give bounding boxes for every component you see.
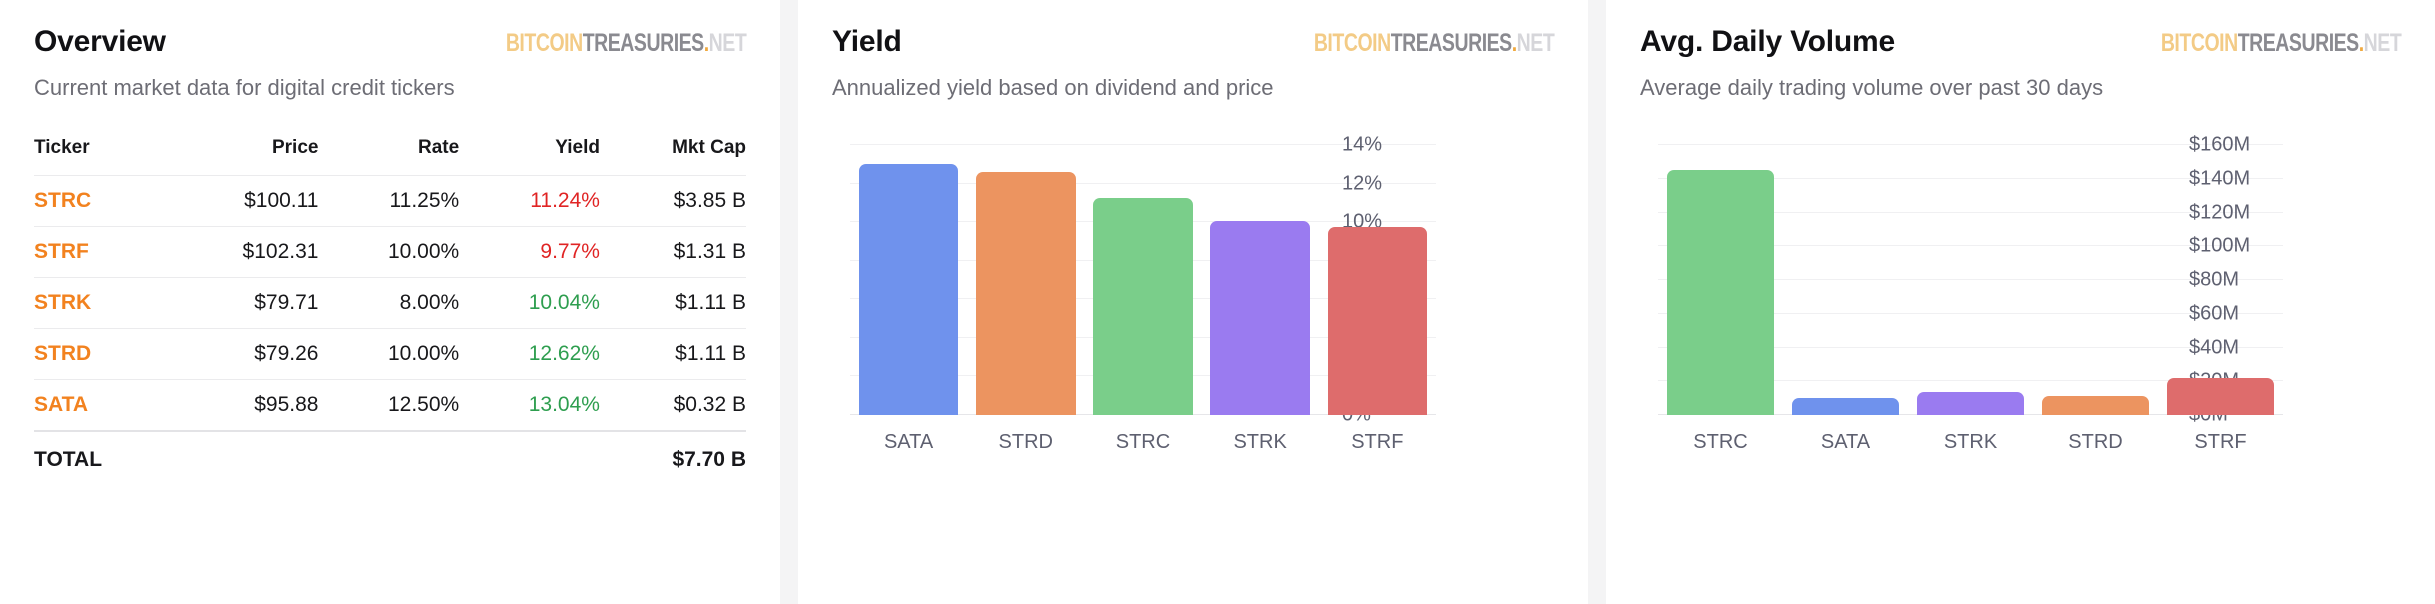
- cell-mktcap: $0.32 B: [600, 380, 746, 432]
- cell-ticker[interactable]: STRF: [34, 227, 168, 278]
- cell-rate: 11.25%: [318, 176, 459, 227]
- cell-rate: 10.00%: [318, 329, 459, 380]
- cell-rate: 8.00%: [318, 278, 459, 329]
- x-axis-tick-label: STRK: [1917, 431, 2023, 454]
- cell-mktcap: $1.11 B: [600, 329, 746, 380]
- cell-price: $95.88: [168, 380, 318, 432]
- cell-ticker[interactable]: STRD: [34, 329, 168, 380]
- yield-bar-chart[interactable]: 0%2%4%6%8%10%12%14%SATASTRDSTRCSTRKSTRF: [832, 131, 1554, 471]
- cell-rate: 12.50%: [318, 380, 459, 432]
- cell-ticker[interactable]: STRC: [34, 176, 168, 227]
- x-axis-tick-label: STRF: [2167, 431, 2273, 454]
- yield-value: 12.62%: [529, 342, 600, 365]
- cell-price: $100.11: [168, 176, 318, 227]
- bar-column[interactable]: [1917, 145, 2023, 415]
- col-price[interactable]: Price: [168, 137, 318, 176]
- brand-part2: TREASURIES: [582, 29, 703, 57]
- bar-strd[interactable]: [2042, 396, 2148, 415]
- bar-strf[interactable]: [2167, 378, 2273, 415]
- volume-bar-chart[interactable]: $0M$20M$40M$60M$80M$100M$120M$140M$160MS…: [1640, 131, 2401, 471]
- table-row[interactable]: SATA$95.8812.50%13.04%$0.32 B: [34, 380, 746, 432]
- cell-ticker[interactable]: STRK: [34, 278, 168, 329]
- yield-header: Yield BITCOINTREASURIES.NET: [832, 26, 1554, 62]
- yield-value: 13.04%: [529, 393, 600, 416]
- cell-price: $79.26: [168, 329, 318, 380]
- bar-strk[interactable]: [1210, 221, 1310, 415]
- x-axis-tick-label: SATA: [1792, 431, 1898, 454]
- cell-yield: 9.77%: [459, 227, 600, 278]
- bar-strd[interactable]: [976, 172, 1076, 415]
- total-price-blank: [168, 431, 318, 485]
- cell-ticker[interactable]: SATA: [34, 380, 168, 432]
- bar-sata[interactable]: [859, 164, 959, 415]
- x-axis-labels: STRCSATASTRKSTRDSTRF: [1658, 427, 2283, 457]
- x-axis-labels: SATASTRDSTRCSTRKSTRF: [850, 427, 1436, 457]
- bar-strc[interactable]: [1093, 198, 1193, 415]
- cell-yield: 13.04%: [459, 380, 600, 432]
- x-axis-tick-label: STRD: [976, 431, 1076, 454]
- bar-column[interactable]: [859, 145, 959, 415]
- bar-series: [850, 145, 1436, 415]
- brand-watermark: BITCOINTREASURIES.NET: [506, 26, 746, 58]
- bar-series: [1658, 145, 2283, 415]
- col-mktcap[interactable]: Mkt Cap: [600, 137, 746, 176]
- overview-header: Overview BITCOINTREASURIES.NET: [34, 26, 746, 62]
- brand-part3: NET: [708, 29, 746, 57]
- yield-value: 10.04%: [529, 291, 600, 314]
- table-row[interactable]: STRK$79.718.00%10.04%$1.11 B: [34, 278, 746, 329]
- bar-column[interactable]: [2167, 145, 2273, 415]
- brand-watermark: BITCOINTREASURIES.NET: [1314, 26, 1554, 58]
- ticker-label: STRK: [34, 291, 91, 314]
- bar-strc[interactable]: [1667, 170, 1773, 415]
- yield-value: 9.77%: [540, 240, 600, 263]
- x-axis-tick-label: STRC: [1667, 431, 1773, 454]
- volume-subtitle: Average daily trading volume over past 3…: [1640, 75, 2401, 101]
- cell-mktcap: $1.31 B: [600, 227, 746, 278]
- bar-column[interactable]: [1093, 145, 1193, 415]
- yield-panel: Yield BITCOINTREASURIES.NET Annualized y…: [798, 0, 1588, 604]
- plot-area: $0M$20M$40M$60M$80M$100M$120M$140M$160M: [1658, 145, 2283, 415]
- bar-strk[interactable]: [1917, 392, 2023, 415]
- bar-strf[interactable]: [1328, 227, 1428, 415]
- plot-area: 0%2%4%6%8%10%12%14%: [850, 145, 1436, 415]
- bar-column[interactable]: [976, 145, 1076, 415]
- bar-column[interactable]: [1328, 145, 1428, 415]
- table-head: Ticker Price Rate Yield Mkt Cap: [34, 137, 746, 176]
- page-title: Overview: [34, 26, 166, 58]
- ticker-label: STRF: [34, 240, 89, 263]
- brand-part1: BITCOIN: [506, 29, 583, 57]
- bar-sata[interactable]: [1792, 398, 1898, 415]
- bar-column[interactable]: [1667, 145, 1773, 415]
- total-label: TOTAL: [34, 431, 168, 485]
- table-total-row: TOTAL$7.70 B: [34, 431, 746, 485]
- brand-part2: TREASURIES: [1390, 29, 1511, 57]
- total-yield-blank: [459, 431, 600, 485]
- overview-table: Ticker Price Rate Yield Mkt Cap STRC$100…: [34, 137, 746, 485]
- total-rate-blank: [318, 431, 459, 485]
- cell-yield: 12.62%: [459, 329, 600, 380]
- table-body: STRC$100.1111.25%11.24%$3.85 BSTRF$102.3…: [34, 176, 746, 486]
- cell-mktcap: $1.11 B: [600, 278, 746, 329]
- x-axis-tick-label: STRK: [1210, 431, 1310, 454]
- yield-value: 11.24%: [530, 189, 600, 212]
- brand-part3: NET: [2363, 29, 2401, 57]
- ticker-label: STRD: [34, 342, 91, 365]
- cell-yield: 10.04%: [459, 278, 600, 329]
- cell-mktcap: $3.85 B: [600, 176, 746, 227]
- ticker-label: STRC: [34, 189, 91, 212]
- table-row[interactable]: STRF$102.3110.00%9.77%$1.31 B: [34, 227, 746, 278]
- brand-watermark: BITCOINTREASURIES.NET: [2161, 26, 2401, 58]
- brand-part3: NET: [1516, 29, 1554, 57]
- overview-subtitle: Current market data for digital credit t…: [34, 75, 746, 101]
- ticker-label: SATA: [34, 393, 88, 416]
- cell-price: $102.31: [168, 227, 318, 278]
- volume-panel: Avg. Daily Volume BITCOINTREASURIES.NET …: [1606, 0, 2435, 604]
- dashboard-board: Overview BITCOINTREASURIES.NET Current m…: [0, 0, 2435, 604]
- brand-part2: TREASURIES: [2237, 29, 2358, 57]
- overview-panel: Overview BITCOINTREASURIES.NET Current m…: [0, 0, 780, 604]
- bar-column[interactable]: [2042, 145, 2148, 415]
- table-row[interactable]: STRC$100.1111.25%11.24%$3.85 B: [34, 176, 746, 227]
- col-ticker[interactable]: Ticker: [34, 137, 168, 176]
- cell-yield: 11.24%: [459, 176, 600, 227]
- cell-rate: 10.00%: [318, 227, 459, 278]
- bar-column[interactable]: [1792, 145, 1898, 415]
- yield-subtitle: Annualized yield based on dividend and p…: [832, 75, 1554, 101]
- bar-column[interactable]: [1210, 145, 1310, 415]
- table-header-row: Ticker Price Rate Yield Mkt Cap: [34, 137, 746, 176]
- col-yield[interactable]: Yield: [459, 137, 600, 176]
- x-axis-tick-label: STRC: [1093, 431, 1193, 454]
- brand-part1: BITCOIN: [1314, 29, 1391, 57]
- x-axis-tick-label: STRD: [2042, 431, 2148, 454]
- total-mktcap: $7.70 B: [600, 431, 746, 485]
- x-axis-tick-label: SATA: [859, 431, 959, 454]
- col-rate[interactable]: Rate: [318, 137, 459, 176]
- volume-title: Avg. Daily Volume: [1640, 26, 1895, 58]
- brand-part1: BITCOIN: [2161, 29, 2238, 57]
- cell-price: $79.71: [168, 278, 318, 329]
- table-row[interactable]: STRD$79.2610.00%12.62%$1.11 B: [34, 329, 746, 380]
- x-axis-tick-label: STRF: [1328, 431, 1428, 454]
- yield-title: Yield: [832, 26, 902, 58]
- volume-header: Avg. Daily Volume BITCOINTREASURIES.NET: [1640, 26, 2401, 62]
